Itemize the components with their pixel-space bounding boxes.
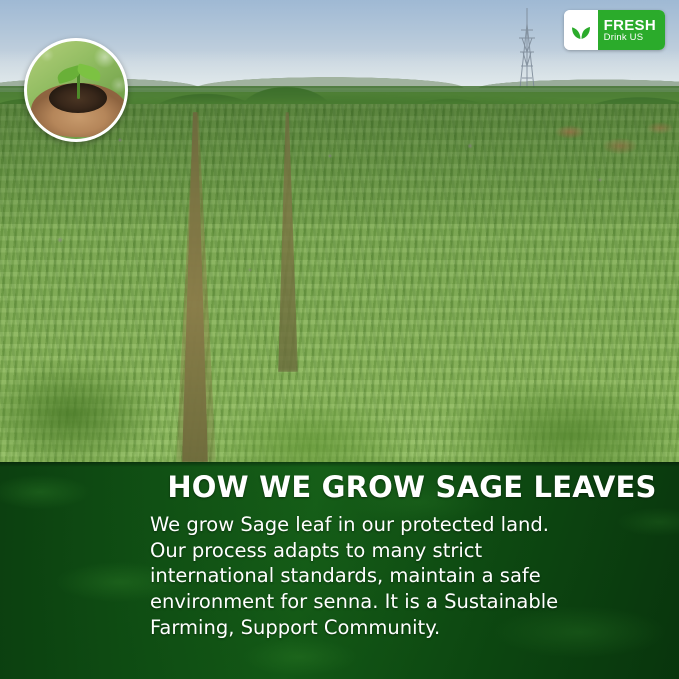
panel-body-line-1: We grow Sage leaf in our protected land.: [150, 512, 668, 538]
panel-body-line-5: Farming, Support Community.: [150, 615, 668, 641]
panel-top-edge: [0, 462, 679, 467]
leaf-icon: [564, 10, 598, 50]
brand-name-line2: Drink US: [604, 33, 656, 43]
panel-body: We grow Sage leaf in our protected land.…: [150, 512, 668, 641]
brand-name-line1: FRESH: [604, 18, 656, 33]
panel-body-line-3: international standards, maintain a safe: [150, 563, 668, 589]
seedling-in-hands-photo: [24, 38, 128, 142]
infographic-canvas: FRESH Drink US HOW WE GROW SAGE LEAVES W…: [0, 0, 679, 679]
reddish-weeds: [540, 112, 679, 172]
brand-logo-text: FRESH Drink US: [598, 10, 665, 50]
panel-body-line-2: Our process adapts to many strict: [150, 538, 668, 564]
panel-body-line-4: environment for senna. It is a Sustainab…: [150, 589, 668, 615]
brand-logo[interactable]: FRESH Drink US: [564, 10, 665, 50]
panel-title: HOW WE GROW SAGE LEAVES: [152, 470, 672, 504]
seedling-stem: [77, 73, 80, 99]
